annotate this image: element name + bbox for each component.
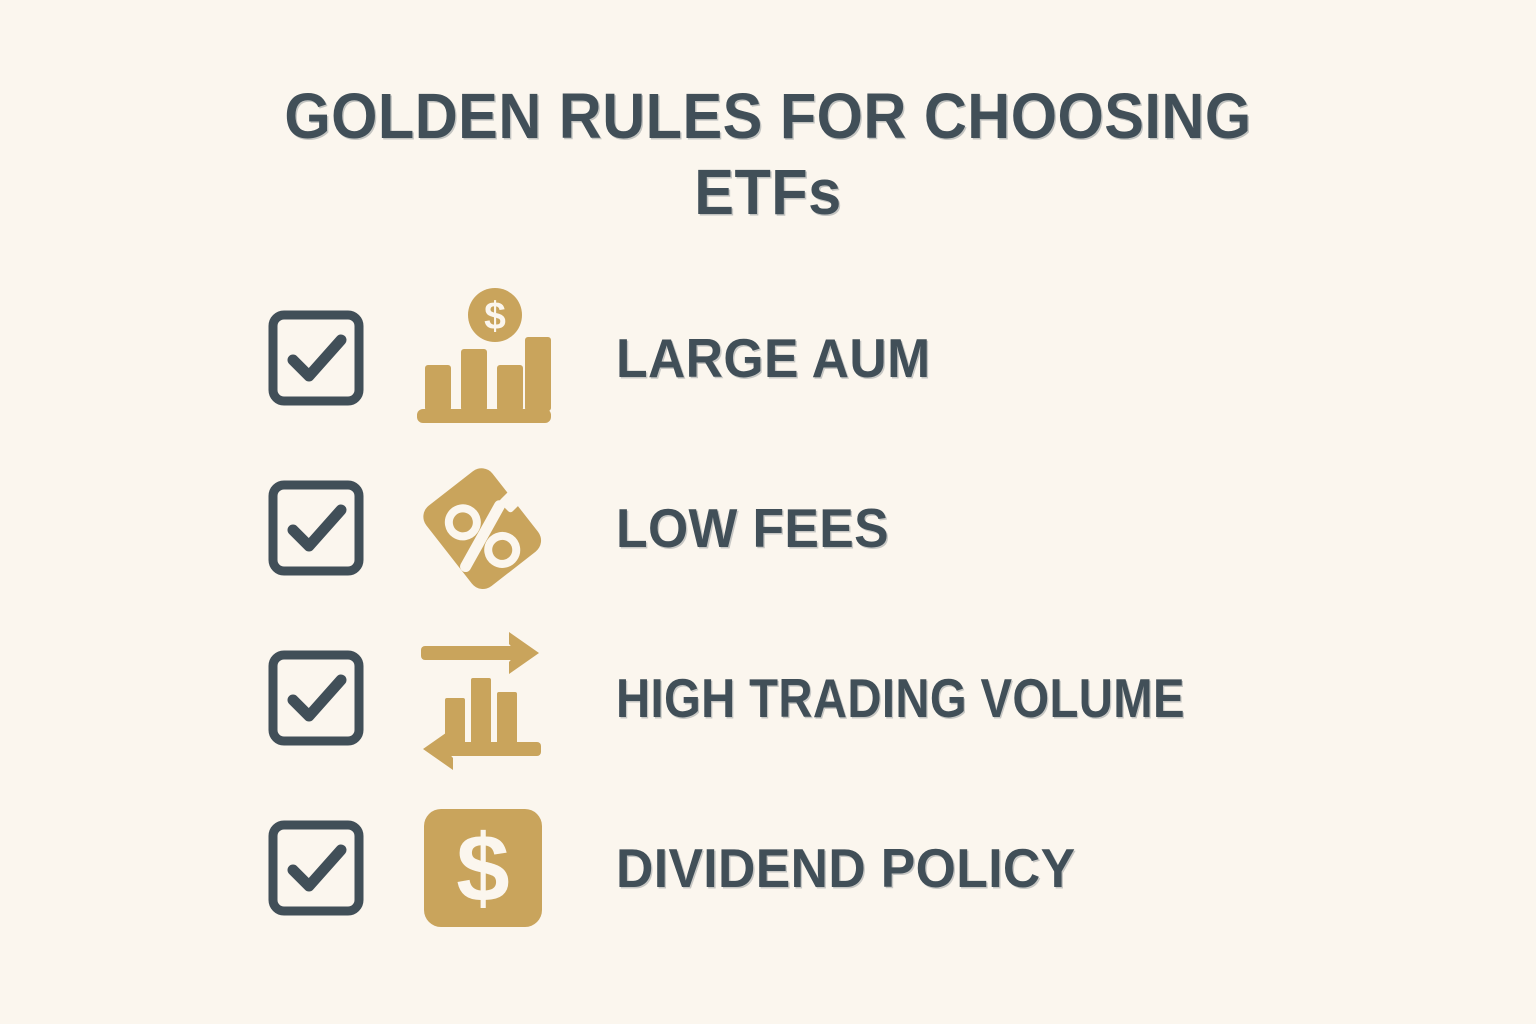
checkbox-checked-icon[interactable] <box>268 820 364 916</box>
trading-volume-arrows-icon <box>408 628 558 768</box>
rule-label-high-trading-volume: HIGH TRADING VOLUME <box>616 668 1349 728</box>
page-title-line-2: ETFs <box>54 154 1482 230</box>
rule-row-high-trading-volume[interactable]: HIGH TRADING VOLUME <box>268 636 1468 760</box>
page-title: GOLDEN RULES FOR CHOOSING ETFs <box>0 78 1536 230</box>
svg-text:$: $ <box>484 295 506 338</box>
checkbox-checked-icon[interactable] <box>268 310 364 406</box>
price-tag-percent-icon <box>408 458 558 598</box>
svg-text:$: $ <box>456 815 509 922</box>
bar-chart-with-coin-icon: $ <box>408 288 558 428</box>
dollar-square-icon: $ <box>408 798 558 938</box>
etf-rules-poster: GOLDEN RULES FOR CHOOSING ETFs $ <box>0 0 1536 1024</box>
checkbox-checked-icon[interactable] <box>268 480 364 576</box>
checkbox-checked-icon[interactable] <box>268 650 364 746</box>
rule-label-large-aum: LARGE AUM <box>616 328 1417 388</box>
rules-list: $ LARGE AUM <box>268 296 1468 930</box>
rule-row-large-aum[interactable]: $ LARGE AUM <box>268 296 1468 420</box>
rule-label-low-fees: LOW FEES <box>616 498 1417 558</box>
rule-label-dividend-policy: DIVIDEND POLICY <box>616 838 1417 898</box>
rule-row-dividend-policy[interactable]: $ DIVIDEND POLICY <box>268 806 1468 930</box>
page-title-line-1: GOLDEN RULES FOR CHOOSING <box>54 78 1482 154</box>
rule-row-low-fees[interactable]: LOW FEES <box>268 466 1468 590</box>
